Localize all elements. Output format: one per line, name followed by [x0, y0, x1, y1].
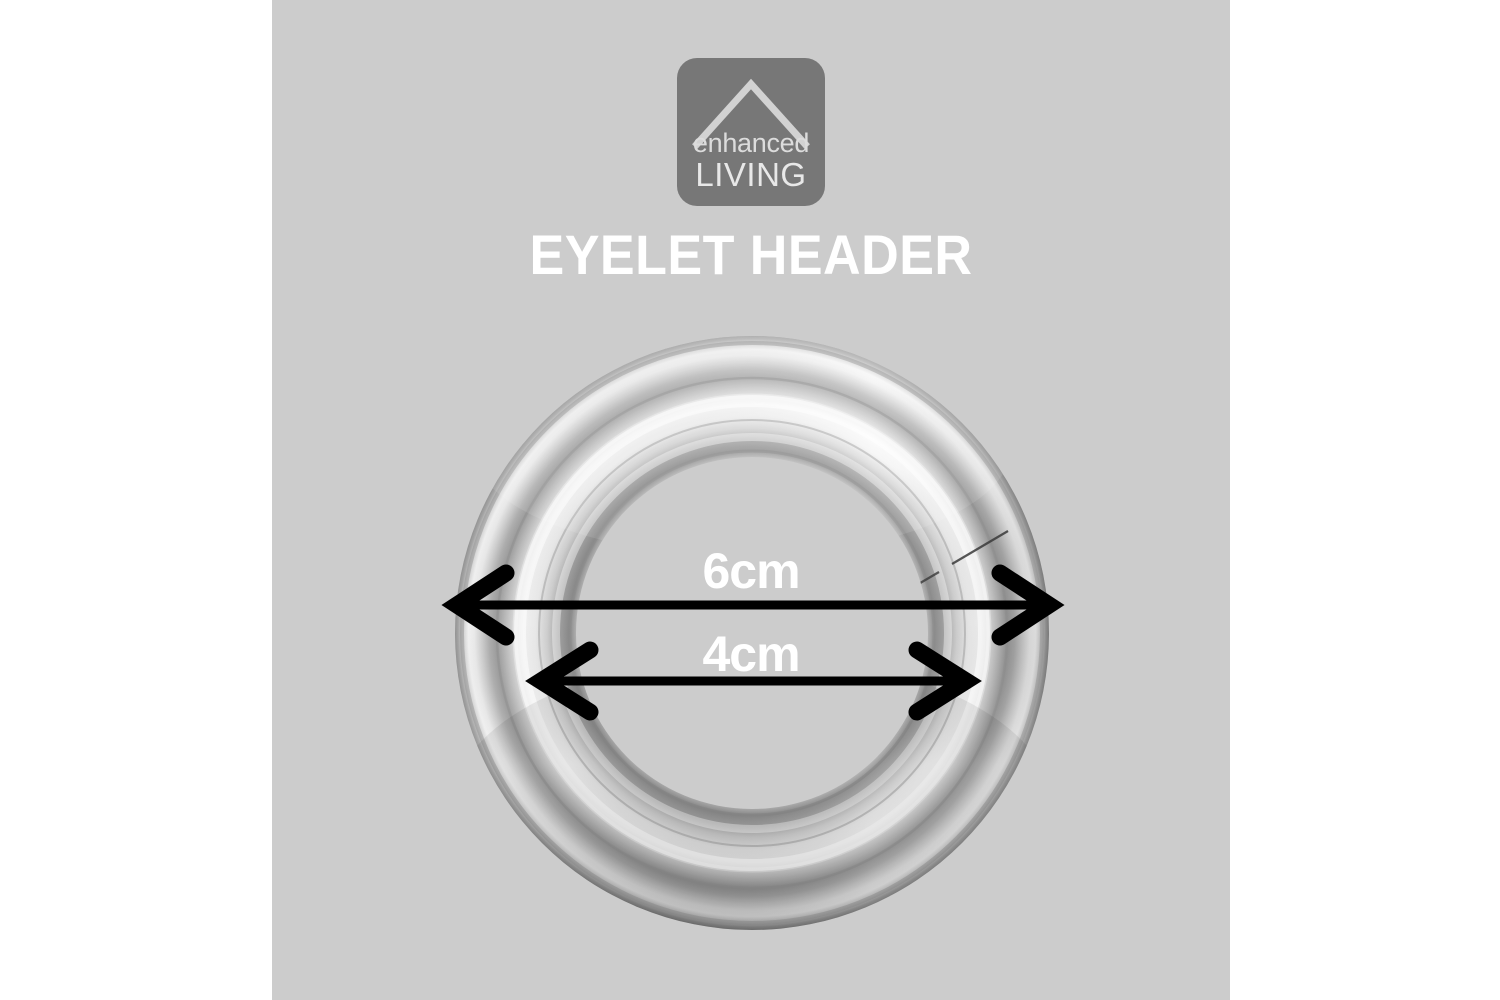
product-panel: enhanced LIVING EYELET HEADER — [272, 0, 1230, 1000]
eyelet-ring-image — [452, 336, 1052, 931]
brand-line-enhanced: enhanced — [677, 130, 825, 157]
eyelet-ring-graphic — [452, 336, 1052, 931]
brand-line-living: LIVING — [677, 158, 825, 191]
brand-logo-text: enhanced LIVING — [677, 130, 825, 191]
brand-logo-badge: enhanced LIVING — [677, 58, 825, 206]
product-image-canvas: enhanced LIVING EYELET HEADER — [0, 0, 1500, 1000]
page-title: EYELET HEADER — [306, 222, 1197, 287]
